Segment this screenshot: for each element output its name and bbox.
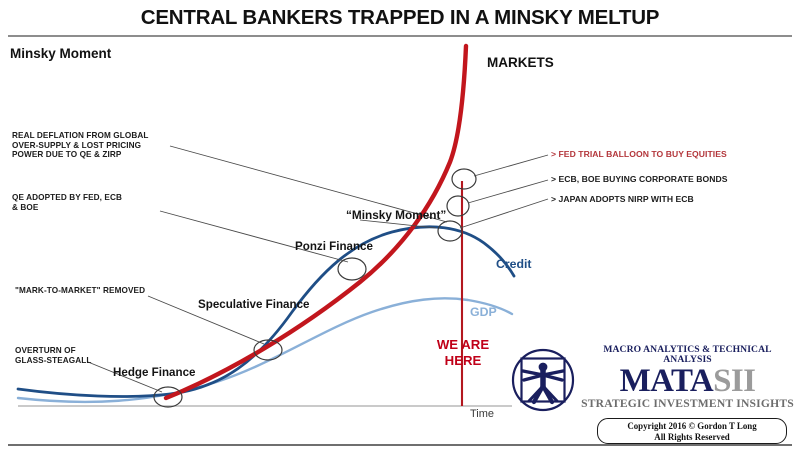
markets-label: MARKETS <box>487 55 554 70</box>
logo-tagline-bottom: STRATEGIC INVESTMENT INSIGHTS <box>580 398 795 410</box>
ponzi-finance-label: Ponzi Finance <box>295 240 373 254</box>
x-axis-label: Time <box>470 408 494 420</box>
annotation-qe-adopted: QE ADOPTED BY FED, ECB & BOE <box>12 193 122 212</box>
we-are-here-label: WE ARE HERE <box>425 337 501 369</box>
annotation-mark-to-market: "MARK-TO-MARKET" REMOVED <box>15 286 145 296</box>
annotation-glass-steagall: OVERTURN OF GLASS-STEAGALL <box>15 346 91 365</box>
logo-tagline-top: MACRO ANALYTICS & TECHNICAL ANALYSIS <box>580 345 795 364</box>
copyright-line-1: Copyright 2016 © Gordon T Long <box>598 421 786 432</box>
marker-ponzi-finance <box>338 258 366 280</box>
credit-series-label: Credit <box>496 257 532 271</box>
chart-page: CENTRAL BANKERS TRAPPED IN A MINSKY MELT… <box>0 0 800 451</box>
annotation-deflation: REAL DEFLATION FROM GLOBAL OVER-SUPPLY &… <box>12 131 148 160</box>
minsky-moment-label: “Minsky Moment” <box>346 209 446 223</box>
marker-fed-balloon <box>452 169 476 189</box>
matasii-logo: MACRO ANALYTICS & TECHNICAL ANALYSIS MAT… <box>510 345 795 417</box>
leader-line-ecb-boe-bonds <box>468 180 548 203</box>
annotation-ecb-boe-bonds: > ECB, BOE BUYING CORPORATE BONDS <box>551 174 728 184</box>
annotation-fed-balloon: > FED TRIAL BALLOON TO BUY EQUITIES <box>551 149 727 159</box>
leader-line-fed-balloon <box>474 155 548 176</box>
leader-line-qe-adopted <box>160 211 348 262</box>
vitruvian-man-icon <box>510 347 576 413</box>
hedge-finance-label: Hedge Finance <box>113 366 195 380</box>
annotation-japan-nirp: > JAPAN ADOPTS NIRP WITH ECB <box>551 194 694 204</box>
leader-line-japan-nirp <box>460 199 548 228</box>
copyright-badge: Copyright 2016 © Gordon T Long All Right… <box>597 418 787 444</box>
logo-name-secondary: SII <box>713 363 755 399</box>
marker-japan-nirp <box>447 196 469 216</box>
gdp-series-label: GDP <box>470 305 497 319</box>
copyright-line-2: All Rights Reserved <box>598 432 786 443</box>
logo-name-primary: MATA <box>620 363 714 399</box>
footer-divider <box>8 444 792 446</box>
speculative-finance-label: Speculative Finance <box>198 298 309 312</box>
